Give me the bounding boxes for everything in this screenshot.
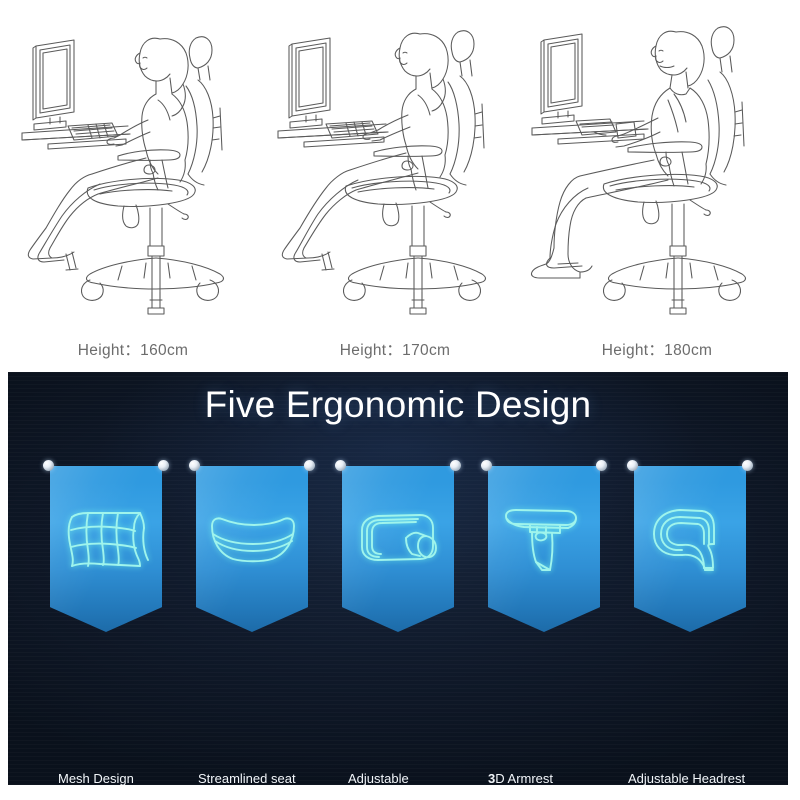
label-line-1: Adjustable Headrest — [628, 771, 745, 785]
feature-banner-mesh-design[interactable]: Mesh Design — [50, 466, 162, 632]
feature-label-adjustable-headrest: Adjustable Headrest — [628, 770, 778, 785]
banner-bead-left — [43, 460, 54, 471]
posture-figure-3: Height：180cm — [524, 0, 790, 372]
feature-label-streamlined-seat: Streamlined seat — [198, 770, 348, 785]
posture-figure-1: Height：160cm — [0, 0, 266, 372]
seated-man-180-illustration — [524, 8, 790, 318]
banner-bead-right — [304, 460, 315, 471]
seated-woman-170-illustration — [262, 8, 528, 318]
banner-bead-left — [627, 460, 638, 471]
height-label-2: Height：170cm — [262, 338, 528, 360]
curved-seat-icon — [202, 500, 302, 578]
feature-label-3d-armrest: 3D Armrest — [488, 770, 638, 785]
banner-bead-left — [335, 460, 346, 471]
headrest-icon — [640, 500, 740, 578]
posture-illustration-section: Height：160cm — [0, 0, 800, 372]
label-line-1: Streamlined seat — [198, 771, 296, 785]
seated-woman-160-illustration — [0, 8, 266, 318]
banner-bead-right — [450, 460, 461, 471]
banner-bead-right — [158, 460, 169, 471]
height-label-3: Height：180cm — [524, 338, 790, 360]
banner-bead-right — [742, 460, 753, 471]
banner-bead-right — [596, 460, 607, 471]
banner-bead-left — [189, 460, 200, 471]
height-label-1: Height：160cm — [0, 338, 266, 360]
posture-figure-2: Height：170cm — [262, 0, 528, 372]
label-line-1: Adjustable — [348, 771, 409, 785]
feature-banner-adjustable-headrest[interactable]: Adjustable Headrest — [634, 466, 746, 632]
feature-banner-3d-armrest[interactable]: 3D Armrest — [488, 466, 600, 632]
feature-banner-streamlined-seat[interactable]: Streamlined seat — [196, 466, 308, 632]
feature-label-mesh-design: Mesh Design — [58, 770, 208, 785]
five-ergonomic-design-panel: Five Ergonomic Design — [8, 372, 788, 785]
mesh-grid-icon — [56, 500, 156, 578]
feature-label-lumbar-support: Adjustable lumbar support — [348, 770, 498, 785]
lumbar-support-icon — [348, 500, 448, 578]
page-title: Five Ergonomic Design — [8, 384, 788, 426]
label-line-1: D Armrest — [495, 771, 553, 785]
armrest-icon — [494, 500, 594, 578]
banner-bead-left — [481, 460, 492, 471]
feature-banner-lumbar-support[interactable]: Adjustable lumbar support — [342, 466, 454, 632]
label-line-1: Mesh Design — [58, 771, 134, 785]
